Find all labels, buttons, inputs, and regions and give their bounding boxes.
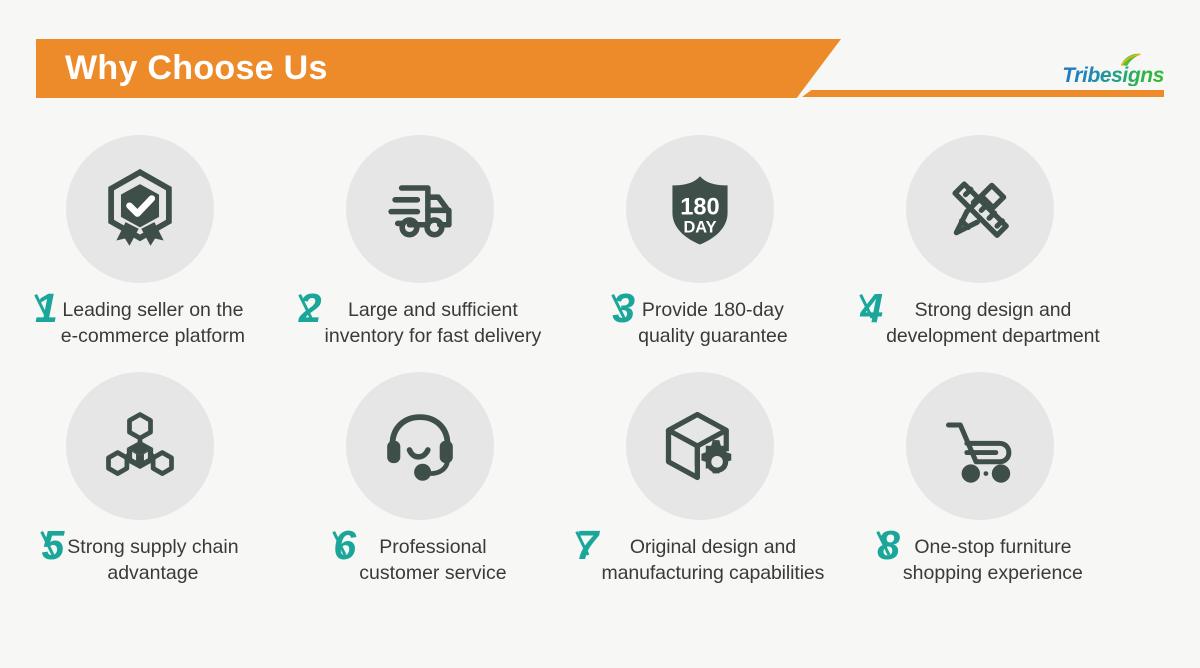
feature-caption-8: 8 One-stop furniture shopping experience (841, 529, 1119, 587)
feature-number-7: 7 (576, 527, 599, 563)
shield-days-number: 180 (680, 194, 719, 220)
feature-number-2: 2 (299, 290, 322, 326)
delivery-truck-icon (378, 167, 462, 251)
feature-text-5: Strong supply chain advantage (67, 529, 238, 587)
feature-icon-8-circle (906, 372, 1054, 520)
feature-number-5: 5 (41, 527, 64, 563)
feature-icon-6-circle (346, 372, 494, 520)
feature-caption-3: 3 Provide 180-day quality guarantee (561, 292, 839, 350)
feature-text-8: One-stop furniture shopping experience (903, 529, 1083, 587)
feature-card-1[interactable]: 1 Leading seller on the e-commerce platf… (1, 135, 279, 350)
brand-logo-text: Tribesigns (1062, 65, 1164, 86)
feature-card-6[interactable]: 6 Professional customer service (281, 372, 559, 587)
feature-card-3[interactable]: 180 DAY 3 Provide 180-day quality guaran… (561, 135, 839, 350)
features-grid: 1 Leading seller on the e-commerce platf… (0, 135, 1200, 587)
feature-caption-4: 4 Strong design and development departme… (841, 292, 1119, 350)
badge-check-icon (98, 167, 182, 251)
feature-card-5[interactable]: 5 Strong supply chain advantage (1, 372, 279, 587)
ruler-pencil-icon (938, 167, 1022, 251)
feature-card-7[interactable]: 7 Original design and manufacturing capa… (561, 372, 839, 587)
feature-icon-2-circle (346, 135, 494, 283)
feature-text-3: Provide 180-day quality guarantee (638, 292, 788, 350)
feature-caption-7: 7 Original design and manufacturing capa… (561, 529, 839, 587)
feature-text-6: Professional customer service (359, 529, 506, 587)
feature-number-1: 1 (35, 290, 58, 326)
feature-icon-7-circle (626, 372, 774, 520)
feature-number-8: 8 (877, 527, 900, 563)
shopping-cart-icon (938, 404, 1022, 488)
feature-number-4: 4 (860, 290, 883, 326)
feature-icon-4-circle (906, 135, 1054, 283)
page-title: Why Choose Us (65, 49, 328, 88)
feature-number-6: 6 (333, 527, 356, 563)
shield-days-unit: DAY (683, 219, 716, 237)
feature-number-3: 3 (612, 290, 635, 326)
page-header: Why Choose Us Tribesigns (0, 0, 1200, 120)
leaf-icon (1120, 53, 1142, 67)
feature-caption-5: 5 Strong supply chain advantage (1, 529, 279, 587)
feature-icon-1-circle (66, 135, 214, 283)
feature-card-8[interactable]: 8 One-stop furniture shopping experience (841, 372, 1119, 587)
title-banner: Why Choose Us (36, 39, 841, 98)
feature-caption-1: 1 Leading seller on the e-commerce platf… (1, 292, 279, 350)
shield-180-day-icon: 180 DAY (658, 167, 742, 251)
brand-logo: Tribesigns (1062, 60, 1164, 86)
feature-card-4[interactable]: 4 Strong design and development departme… (841, 135, 1119, 350)
feature-icon-3-circle: 180 DAY (626, 135, 774, 283)
feature-text-1: Leading seller on the e-commerce platfor… (61, 292, 245, 350)
feature-text-4: Strong design and development department (886, 292, 1100, 350)
header-divider-rule (802, 90, 1164, 97)
feature-icon-5-circle (66, 372, 214, 520)
feature-caption-6: 6 Professional customer service (281, 529, 559, 587)
feature-text-2: Large and sufficient inventory for fast … (325, 292, 542, 350)
feature-text-7: Original design and manufacturing capabi… (601, 529, 824, 587)
headset-support-icon (378, 404, 462, 488)
box-gear-manufacturing-icon (658, 404, 742, 488)
supply-chain-network-icon (98, 404, 182, 488)
feature-card-2[interactable]: 2 Large and sufficient inventory for fas… (281, 135, 559, 350)
feature-caption-2: 2 Large and sufficient inventory for fas… (281, 292, 559, 350)
